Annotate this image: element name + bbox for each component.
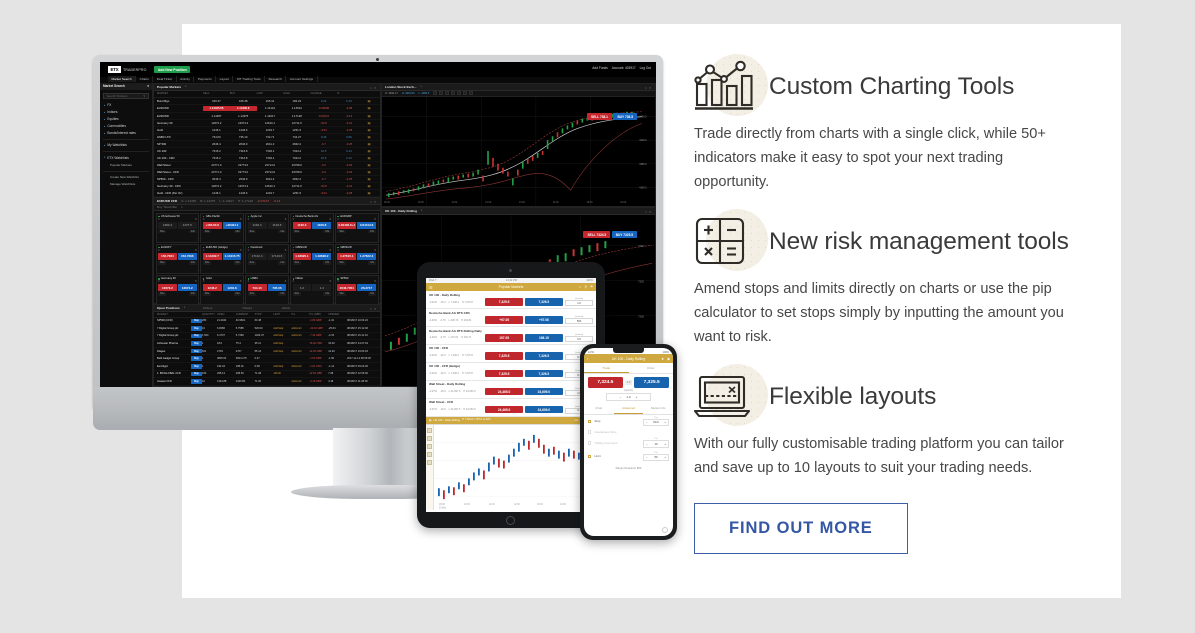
field-stepper[interactable]: Pts−50+ bbox=[643, 452, 669, 462]
tile-sell-button[interactable]: 152.7084 bbox=[158, 253, 177, 260]
quantity-value[interactable]: 0.5 bbox=[565, 336, 593, 342]
row-quantity[interactable]: Quantity0.5 bbox=[565, 334, 593, 343]
checkbox[interactable] bbox=[588, 441, 591, 444]
buy-price[interactable]: 23773.0 bbox=[230, 170, 257, 174]
list-item[interactable]: Wall Street - CFD-0.07%-16.9L 24,097.5H … bbox=[426, 399, 596, 417]
quantity-value[interactable]: 500 bbox=[565, 318, 593, 324]
tile-size-button[interactable]: Size bbox=[337, 292, 345, 296]
tile-size-button[interactable]: Size bbox=[203, 230, 211, 234]
sidebar-item-etx-watchlists[interactable]: ▾ETX Watchlists bbox=[100, 154, 152, 161]
sell-price[interactable]: 2646.4 bbox=[203, 142, 230, 146]
tile-info-button[interactable]: Info bbox=[323, 261, 331, 265]
table-row[interactable]: HSBC LTD734.00735.10732.71744.270.490.06… bbox=[154, 134, 380, 141]
draw-tool-icon[interactable] bbox=[427, 428, 432, 433]
tile-info-button[interactable]: Info bbox=[278, 261, 286, 265]
chevron-left-icon[interactable]: ‹ bbox=[587, 356, 588, 361]
tab-open-positions[interactable]: Open Positions bbox=[157, 306, 180, 310]
tile-buy-button[interactable]: 0.84413.6 bbox=[357, 222, 376, 229]
position-stop-link[interactable]: Add Stop bbox=[273, 342, 291, 345]
advanced-field[interactable]: Guaranteed Stop bbox=[584, 428, 673, 436]
row-actions-icon[interactable]: ▤ bbox=[361, 106, 377, 110]
sell-price[interactable]: 23771.0 bbox=[203, 170, 230, 174]
sell-button[interactable]: 24,465.0 bbox=[485, 388, 523, 395]
chart-compare-icon[interactable] bbox=[457, 91, 461, 95]
tile-buy-button[interactable]: 1477.5 bbox=[178, 222, 197, 229]
buy-price[interactable]: 12674.2 bbox=[230, 184, 257, 188]
column-header[interactable]: % bbox=[337, 92, 361, 95]
chart-second-tab[interactable]: UK 100 - Daily Rolling bbox=[385, 209, 417, 213]
phone-sell-button[interactable]: 7,324.5 bbox=[588, 377, 623, 388]
price-tiles-tab[interactable]: EURUSD CFD bbox=[157, 199, 177, 203]
row-actions-icon[interactable]: ▤ bbox=[361, 128, 377, 132]
tile-sell-button[interactable]: 1.27615.1 bbox=[337, 253, 356, 260]
tab-trade[interactable]: Trade bbox=[584, 363, 629, 373]
tile-info-button[interactable]: Info bbox=[234, 230, 242, 234]
table-row[interactable]: 7 Digital Group plcBuy1,5006.47375.74831… bbox=[154, 333, 380, 341]
position-side-badge[interactable]: Buy bbox=[191, 356, 202, 361]
position-limit-link[interactable]: Add Limit bbox=[291, 334, 309, 337]
checkbox[interactable] bbox=[588, 455, 591, 458]
row-actions-icon[interactable]: ▤ bbox=[361, 114, 377, 118]
panel-controls[interactable]: □ ✕ bbox=[370, 200, 377, 204]
chart-buy-button[interactable]: BUY 738.5 bbox=[613, 113, 637, 120]
list-item[interactable]: Wall Street - Daily Rolling-0.07%-16.9L … bbox=[426, 381, 596, 399]
buy-price[interactable]: 2646.9 bbox=[230, 177, 257, 181]
price-tile[interactable]: SP500SB2646.735426.2717SizeInfo bbox=[335, 275, 379, 305]
chart-fullscreen-icon[interactable] bbox=[469, 91, 473, 95]
measure-tool-icon[interactable] bbox=[427, 452, 432, 457]
buy-price[interactable]: 1246.6 bbox=[230, 191, 257, 195]
column-header[interactable]: OPEN bbox=[217, 313, 236, 316]
tile-size-button[interactable]: Size bbox=[293, 230, 301, 234]
sell-button[interactable]: 7,325.5 bbox=[485, 370, 523, 377]
row-actions-icon[interactable]: ▤ bbox=[361, 170, 377, 174]
market-watch-tab[interactable]: Popular Markets bbox=[157, 85, 181, 89]
minus-icon[interactable]: − bbox=[646, 455, 648, 459]
field-stepper[interactable]: Pts−10+ bbox=[643, 438, 669, 448]
position-side-badge[interactable]: Buy bbox=[191, 349, 202, 354]
tile-sell-button[interactable]: 1246.2 bbox=[203, 284, 222, 291]
column-header[interactable] bbox=[361, 92, 377, 95]
position-side-badge[interactable]: Buy bbox=[191, 364, 202, 369]
sidebar-item-equities[interactable]: ▸Equities bbox=[100, 116, 152, 123]
tab-history[interactable]: History bbox=[242, 306, 252, 310]
nav-account-settings[interactable]: Account Settings bbox=[286, 76, 317, 82]
list-item[interactable]: Deutsche Bank AG RTS Rolling Daily-4.29%… bbox=[426, 327, 596, 345]
phone-buy-button[interactable]: 7,325.5 bbox=[634, 377, 669, 388]
buy-button[interactable]: 7,326.5 bbox=[525, 370, 563, 377]
tile-size-button[interactable]: Size bbox=[158, 230, 166, 234]
table-row[interactable]: UK 100 - CFD7315.27316.87303.17324.210.5… bbox=[154, 155, 380, 162]
position-stop-link[interactable]: Add Stop bbox=[273, 350, 291, 353]
sell-price[interactable]: 12672.2 bbox=[203, 184, 230, 188]
buy-button[interactable]: 7,326.5 bbox=[525, 352, 563, 359]
table-row[interactable]: EURUSD1.14435.561.14435.61.141441.14544-… bbox=[154, 105, 380, 113]
sell-price[interactable]: 734.00 bbox=[203, 135, 230, 139]
chart-main-canvas[interactable]: 09:0010:0011:00 12:0013:0014:00 15:0016:… bbox=[382, 97, 655, 206]
nav-activity[interactable]: Activity bbox=[177, 76, 195, 82]
table-row[interactable]: EuroSgotBuy1194.34198.010.08Add StopAdd … bbox=[154, 363, 380, 371]
tab-market-info[interactable]: Market Info bbox=[643, 404, 673, 414]
chart-type-icon[interactable] bbox=[439, 91, 443, 95]
chart-indicators-icon[interactable] bbox=[451, 91, 455, 95]
advanced-field[interactable]: LimitPts−50+ bbox=[584, 450, 673, 464]
tab-advanced[interactable]: Advanced bbox=[614, 404, 644, 414]
quantity-stepper[interactable]: − 1.0 + bbox=[606, 393, 651, 401]
create-new-watchlist-link[interactable]: Create New Watchlist bbox=[100, 174, 152, 181]
position-stop-link[interactable]: Add Stop bbox=[273, 327, 291, 330]
tile-size-button[interactable]: Size bbox=[293, 292, 301, 296]
tile-buy-button[interactable]: +26424.1 bbox=[223, 222, 242, 229]
column-header[interactable]: LOW bbox=[257, 92, 284, 95]
buy-price[interactable]: 1.14435.6 bbox=[230, 106, 257, 111]
nav-research[interactable]: Research bbox=[265, 76, 286, 82]
tile-size-button[interactable]: Size bbox=[248, 230, 256, 234]
indicator-tool-icon[interactable] bbox=[427, 436, 432, 441]
tile-size-button[interactable]: Size bbox=[337, 230, 345, 234]
quantity-value[interactable]: 1.0 bbox=[565, 300, 593, 306]
chevron-down-icon[interactable]: ▾ bbox=[184, 306, 185, 309]
price-tile[interactable]: US Echeese 50SB1382.41477.5SizeInfo bbox=[156, 213, 200, 243]
chart-timeframe-icon[interactable] bbox=[433, 91, 437, 95]
list-item[interactable]: UK 100 - CFD-0.22%-16.3L 7,346.2H 7,307.… bbox=[426, 345, 596, 363]
minus-icon[interactable]: − bbox=[620, 395, 622, 399]
position-stop-link[interactable]: Add Stop bbox=[273, 334, 291, 337]
tablet-chart-tools[interactable] bbox=[426, 425, 434, 510]
chart-main-tab[interactable]: London Stock Exch... bbox=[385, 85, 416, 89]
tile-buy-button[interactable]: 1246.8 bbox=[223, 284, 242, 291]
sidebar-item-my-watchlists[interactable]: ▸My Watchlists bbox=[100, 142, 152, 149]
tablet-chart[interactable]: 09:3010:3011:30 12:3013:3014:3015:30 23 … bbox=[426, 424, 596, 510]
advanced-field[interactable]: Trailing IncrementPts−10+ bbox=[584, 436, 673, 450]
advanced-field[interactable]: StopPts−50.0+ bbox=[584, 415, 673, 429]
position-limit-link[interactable]: Add Limit bbox=[291, 380, 309, 383]
tile-sell-button[interactable]: 1.14402.7 bbox=[203, 253, 222, 260]
tile-sell-button[interactable]: 1162.3 bbox=[293, 222, 312, 229]
price-tile[interactable]: Apple IncSB1102.41103.5SizeInfo bbox=[245, 213, 289, 243]
row-actions-icon[interactable]: ▤ bbox=[361, 191, 377, 195]
buy-button[interactable]: 24,609.0 bbox=[525, 388, 563, 395]
bell-icon[interactable]: ◉ bbox=[667, 357, 670, 361]
list-item[interactable]: UK 100 - Daily Rolling-0.22%-16.3L 7,346… bbox=[426, 291, 596, 309]
buy-price[interactable]: 2646.9 bbox=[230, 142, 257, 146]
table-row[interactable]: UK 1007315.27316.87303.17324.210.50.14▤ bbox=[154, 148, 380, 155]
table-row[interactable]: DiageoBuy5212703270755.14Add StopAdd Lim… bbox=[154, 348, 380, 356]
table-row[interactable]: Gold1246.11246.61243.71251.5-3.64-0.28▤ bbox=[154, 127, 380, 134]
table-row[interactable]: SP500 (CFD)Buy28321.294440.960160.48-1.8… bbox=[154, 318, 380, 326]
manage-watchlists-link[interactable]: Manage Watchlists bbox=[100, 181, 152, 188]
checkbox[interactable] bbox=[588, 430, 591, 433]
tile-sell-button[interactable]: +165.64.6 bbox=[203, 222, 222, 229]
buy-price[interactable]: 12674.2 bbox=[230, 121, 257, 125]
tile-info-button[interactable]: Info bbox=[234, 292, 242, 296]
sell-price[interactable]: 1246.1 bbox=[203, 191, 230, 195]
table-row[interactable]: Wall Street23771.023773.023714.023798.0-… bbox=[154, 162, 380, 169]
tab-orders[interactable]: Orders bbox=[203, 306, 212, 310]
row-actions-icon[interactable]: ▤ bbox=[361, 135, 377, 139]
add-new-position-button[interactable]: Add New Position bbox=[154, 66, 190, 73]
sidebar-item-indices[interactable]: ▸Indices bbox=[100, 109, 152, 116]
panel-controls[interactable]: □ ✕ bbox=[370, 86, 377, 90]
position-side-badge[interactable]: Buy bbox=[191, 319, 202, 324]
tile-size-button[interactable]: Size bbox=[337, 261, 345, 265]
tile-buy-button[interactable]: 1.14415.75 bbox=[223, 253, 242, 260]
table-row[interactable]: Gold - CFD (Per Oz)1246.11246.61243.7125… bbox=[154, 190, 380, 197]
chevron-down-icon[interactable]: ▾ bbox=[421, 209, 422, 212]
price-tile[interactable]: Deutsche Bank AGSB1162.31166.8SizeInfo bbox=[290, 213, 334, 243]
table-row[interactable]: 1. BIOGLOBAL CFDBuy182208.13208.5071.281… bbox=[154, 371, 380, 379]
position-side-badge[interactable]: Buy bbox=[191, 341, 202, 346]
row-actions-icon[interactable]: ▤ bbox=[361, 177, 377, 181]
tile-sell-button[interactable]: 12673.2 bbox=[158, 284, 177, 291]
logout-link[interactable]: Log Out bbox=[640, 66, 651, 70]
table-row[interactable]: Bulk Gadget GroupBuy13825.043824.1750.07… bbox=[154, 355, 380, 363]
tile-info-button[interactable]: Info bbox=[234, 261, 242, 265]
column-header[interactable]: P/L bbox=[291, 313, 309, 316]
person-icon[interactable]: ☂ bbox=[590, 285, 593, 289]
row-actions-icon[interactable]: ▤ bbox=[361, 163, 377, 167]
chevron-down-icon[interactable]: ▾ bbox=[147, 84, 149, 88]
buy-button[interactable]: +97.06 bbox=[525, 316, 563, 323]
grid-icon[interactable]: ▦ bbox=[429, 418, 432, 422]
plus-icon[interactable]: + bbox=[664, 455, 666, 459]
star-icon[interactable]: ★ bbox=[661, 357, 664, 361]
sell-price[interactable]: 1.14435.56 bbox=[203, 106, 230, 111]
tile-buy-button[interactable]: 152.7296 bbox=[178, 253, 197, 260]
search-input[interactable]: Search Markets ⚲ bbox=[103, 93, 149, 99]
field-stepper[interactable]: Pts−50.0+ bbox=[643, 417, 669, 427]
price-tile[interactable]: FacebookSB17142.417143.5SizeInfo bbox=[245, 244, 289, 274]
tile-sell-button[interactable]: 1.18620.1 bbox=[293, 253, 312, 260]
table-row[interactable]: EURUSD1.143871.143751.146171.17148-0.001… bbox=[154, 113, 380, 120]
add-funds-link[interactable]: Add Funds bbox=[592, 66, 607, 70]
row-quantity[interactable]: Quantity1.0 bbox=[565, 298, 593, 307]
search-icon[interactable]: ⚲ bbox=[143, 94, 145, 98]
row-actions-icon[interactable]: ▤ bbox=[361, 156, 377, 160]
settings-tool-icon[interactable] bbox=[427, 444, 432, 449]
tile-sell-button[interactable]: 0.84402.6+1 bbox=[337, 222, 356, 229]
column-header[interactable]: CHANGE bbox=[310, 92, 337, 95]
price-tile[interactable]: GoldSB1246.21246.8SizeInfo bbox=[200, 275, 244, 305]
tile-sell-button[interactable]: 2646.7354 bbox=[337, 284, 356, 291]
sidebar-item-bonds[interactable]: ▸Bonds/Interest rates bbox=[100, 130, 152, 137]
checkbox[interactable] bbox=[588, 420, 591, 423]
table-row[interactable]: Germany 3012672.212674.212610.112711.9-5… bbox=[154, 120, 380, 127]
sell-price[interactable]: 7315.2 bbox=[203, 149, 230, 153]
tablet-home-button[interactable] bbox=[506, 516, 515, 525]
buy-price[interactable]: 1.14375 bbox=[230, 114, 257, 118]
tile-info-button[interactable]: Info bbox=[323, 292, 331, 296]
sell-button[interactable]: +97.05 bbox=[485, 316, 523, 323]
tile-buy-button[interactable]: 1.27622.3 bbox=[357, 253, 376, 260]
column-header[interactable]: QUANTITY bbox=[202, 313, 217, 316]
column-header[interactable]: BUY bbox=[230, 92, 257, 95]
price-tile[interactable]: HSBCSB734.10735.06SizeInfo bbox=[245, 275, 289, 305]
tile-info-button[interactable]: Info bbox=[368, 230, 376, 234]
table-row[interactable]: Germany 30 - CFD12672.212674.212610.1127… bbox=[154, 183, 380, 190]
position-side-badge[interactable]: Buy bbox=[191, 379, 202, 384]
column-header[interactable]: OPENED bbox=[328, 313, 347, 316]
panel-controls[interactable]: □ ✕ bbox=[370, 307, 377, 311]
price-tile[interactable]: GBPEURSB1.27615.11.27622.3SizeInfo bbox=[335, 244, 379, 274]
nav-payments[interactable]: Payments bbox=[194, 76, 216, 82]
plus-icon[interactable]: + bbox=[636, 395, 638, 399]
plus-icon[interactable]: + bbox=[664, 442, 666, 446]
column-header[interactable]: STOP bbox=[255, 313, 274, 316]
column-header[interactable]: LIMIT bbox=[273, 313, 291, 316]
sell-button[interactable]: 24,465.0 bbox=[485, 406, 523, 413]
tile-info-button[interactable]: Info bbox=[368, 292, 376, 296]
sidebar-item-fx[interactable]: ▸FX bbox=[100, 102, 152, 109]
row-quantity[interactable]: Quantity500 bbox=[565, 316, 593, 325]
buy-button[interactable]: 24,609.0 bbox=[525, 406, 563, 413]
chevron-down-icon[interactable]: ▾ bbox=[420, 85, 421, 88]
table-row[interactable]: SP500 - CFD2646.42646.92641.22662.2-6.7-… bbox=[154, 176, 380, 183]
row-actions-icon[interactable]: ▤ bbox=[361, 121, 377, 125]
position-stop-link[interactable]: 130.00 bbox=[273, 372, 291, 375]
tile-info-button[interactable]: Info bbox=[323, 230, 331, 234]
tile-buy-button[interactable]: 1166.8 bbox=[312, 222, 331, 229]
price-tile[interactable]: NikkeiSB1.21.4SizeInfo bbox=[290, 275, 334, 305]
minus-icon[interactable]: − bbox=[646, 442, 648, 446]
list-item[interactable]: UK 100 - CFD (Hedge)-0.22%-16.3L 7,346.2… bbox=[426, 363, 596, 381]
nav-layout[interactable]: Layout bbox=[216, 76, 233, 82]
chart-second-buy-button[interactable]: BUY 7325.5 bbox=[612, 231, 637, 238]
tile-size-button[interactable]: Size bbox=[293, 261, 301, 265]
tile-size-button[interactable]: Size bbox=[203, 292, 211, 296]
minus-icon[interactable]: − bbox=[646, 420, 648, 424]
fullscreen-tool-icon[interactable] bbox=[427, 460, 432, 465]
panel-controls[interactable]: □ ✕ bbox=[645, 86, 652, 90]
price-tile[interactable]: EURGBPSB0.84402.6+10.84413.6SizeInfo bbox=[335, 213, 379, 243]
sell-button[interactable]: 7,325.5 bbox=[485, 352, 523, 359]
buy-price[interactable]: 23773.0 bbox=[230, 163, 257, 167]
sell-price[interactable]: 166.37 bbox=[203, 99, 230, 103]
column-header[interactable]: MARKET bbox=[157, 313, 191, 316]
chevron-down-icon[interactable]: ▾ bbox=[185, 85, 186, 88]
column-header[interactable]: HIGH bbox=[283, 92, 310, 95]
table-row[interactable]: Anheuser PharmaBuy118.075.435.11Add Stop… bbox=[154, 340, 380, 348]
tile-buy-button[interactable]: 1103.5 bbox=[268, 222, 287, 229]
tile-info-button[interactable]: Info bbox=[189, 292, 197, 296]
row-actions-icon[interactable]: ▤ bbox=[361, 99, 377, 103]
table-row[interactable]: Bund Bgo166.37166.38165.41166.240.220.13… bbox=[154, 98, 380, 105]
tile-info-button[interactable]: Info bbox=[368, 261, 376, 265]
panel-controls[interactable]: □ ✕ bbox=[645, 210, 652, 214]
find-out-more-button[interactable]: FIND OUT MORE bbox=[694, 503, 908, 554]
column-header[interactable]: MARKET bbox=[157, 92, 203, 95]
tile-buy-button[interactable]: 12674.2 bbox=[178, 284, 197, 291]
sell-price[interactable]: 1.14387 bbox=[203, 114, 230, 118]
buy-button[interactable]: 7,326.5 bbox=[525, 298, 563, 305]
position-limit-link[interactable]: Add Limit bbox=[291, 350, 309, 353]
row-actions-icon[interactable]: ▤ bbox=[361, 184, 377, 188]
tiles-subtab[interactable]: Buy Tiles/Offer bbox=[157, 205, 177, 209]
field-value[interactable]: −50+ bbox=[643, 454, 669, 462]
nav-market-search[interactable]: Market Search bbox=[108, 76, 136, 82]
nav-charts[interactable]: Charts bbox=[136, 76, 153, 82]
tile-size-button[interactable]: Size bbox=[203, 261, 211, 265]
column-header[interactable]: CURRENT bbox=[236, 313, 255, 316]
nav-deal-ticket[interactable]: Deal Ticket bbox=[153, 76, 176, 82]
tile-size-button[interactable]: Size bbox=[158, 261, 166, 265]
chart-second-sell-button[interactable]: SELL 7324.5 bbox=[583, 231, 610, 238]
sell-price[interactable]: 12672.2 bbox=[203, 121, 230, 125]
tile-size-button[interactable]: Size bbox=[248, 261, 256, 265]
sell-price[interactable]: 2646.4 bbox=[203, 177, 230, 181]
column-header[interactable]: P/L (GBP) bbox=[309, 313, 328, 316]
tab-chart[interactable]: Chart bbox=[584, 404, 614, 414]
tile-info-button[interactable]: Info bbox=[189, 230, 197, 234]
tile-sell-button[interactable]: 734.10 bbox=[248, 284, 267, 291]
position-limit-link[interactable]: Add Limit bbox=[291, 327, 309, 330]
plus-icon[interactable]: + bbox=[664, 420, 666, 424]
tile-buy-button[interactable]: 735.06 bbox=[268, 284, 287, 291]
position-side-badge[interactable]: Buy bbox=[191, 326, 202, 331]
tile-sell-button[interactable]: 1102.4 bbox=[248, 222, 267, 229]
price-tile[interactable]: EURJPYSB152.7084152.7296SizeInfo bbox=[156, 244, 200, 274]
price-tile[interactable]: Germany 30SB12673.212674.2SizeInfo bbox=[156, 275, 200, 305]
chart-settings-icon[interactable] bbox=[463, 91, 467, 95]
row-actions-icon[interactable]: ▤ bbox=[361, 149, 377, 153]
field-value[interactable]: −50.0+ bbox=[643, 419, 669, 427]
tile-buy-button[interactable]: 26.2717 bbox=[357, 284, 376, 291]
buy-price[interactable]: 166.38 bbox=[230, 99, 257, 103]
tile-info-button[interactable]: Info bbox=[189, 261, 197, 265]
position-stop-link[interactable]: Add Stop bbox=[273, 365, 291, 368]
chart-sell-button[interactable]: SELL 738.1 bbox=[587, 113, 612, 120]
field-value[interactable]: −10+ bbox=[643, 440, 669, 448]
buy-price[interactable]: 735.10 bbox=[230, 135, 257, 139]
tile-buy-button[interactable]: 17143.5 bbox=[268, 253, 287, 260]
sell-button[interactable]: 7,325.5 bbox=[485, 298, 523, 305]
list-item[interactable]: Deutsche Bank AG RTS CFD-4.29%-0.79L 206… bbox=[426, 309, 596, 327]
price-tile[interactable]: EURUSD (Hedge)SB1.14402.71.14415.75SizeI… bbox=[200, 244, 244, 274]
tile-buy-button[interactable]: 1.18628.2 bbox=[312, 253, 331, 260]
chevron-down-icon[interactable]: ▾ bbox=[181, 206, 182, 209]
price-tile[interactable]: GBPEURSB1.18620.11.18628.2SizeInfo bbox=[290, 244, 334, 274]
tile-buy-button[interactable]: 1.4 bbox=[312, 284, 331, 291]
star-icon[interactable]: ☆ bbox=[578, 285, 581, 289]
buy-price[interactable]: 7316.8 bbox=[230, 149, 257, 153]
table-row[interactable]: SP 5002646.42646.92641.22662.2-6.7-0.25▤ bbox=[154, 141, 380, 148]
row-actions-icon[interactable]: ▤ bbox=[361, 142, 377, 146]
account-number[interactable]: Account: 403917 bbox=[612, 66, 636, 70]
tab-order[interactable]: Order bbox=[629, 363, 674, 373]
tile-info-button[interactable]: Info bbox=[278, 292, 286, 296]
buy-button[interactable]: 198.15 bbox=[525, 334, 563, 341]
table-row[interactable]: 7 Digital Group plcBuy106.00865.7585520.… bbox=[154, 325, 380, 333]
buy-price[interactable]: 1246.6 bbox=[230, 128, 257, 132]
tab-alerts[interactable]: Alerts bbox=[282, 306, 290, 310]
position-side-badge[interactable]: Buy bbox=[191, 334, 202, 339]
buy-price[interactable]: 7316.8 bbox=[230, 156, 257, 160]
tile-size-button[interactable]: Size bbox=[248, 292, 256, 296]
search-icon[interactable]: ⚲ bbox=[584, 285, 586, 289]
phone-home-indicator[interactable] bbox=[662, 527, 668, 533]
chart-draw-icon[interactable] bbox=[445, 91, 449, 95]
position-side-badge[interactable]: Buy bbox=[191, 372, 202, 377]
sell-price[interactable]: 7315.2 bbox=[203, 156, 230, 160]
tile-size-button[interactable]: Size bbox=[158, 292, 166, 296]
nav-mt-trading-tools[interactable]: MT Trading Tools bbox=[233, 76, 265, 82]
column-header[interactable]: SELL bbox=[203, 92, 230, 95]
table-row[interactable]: Wall Street - CFD23771.023773.023714.023… bbox=[154, 169, 380, 176]
table-row[interactable]: Huawei CFDBuy101324.881340.8071.00Add Li… bbox=[154, 378, 380, 386]
sell-button[interactable]: 197.05 bbox=[485, 334, 523, 341]
sidebar-item-commodities[interactable]: ▸Commodities bbox=[100, 123, 152, 130]
price-tile[interactable]: GBL-PacificSB+165.64.6+26424.1SizeInfo bbox=[200, 213, 244, 243]
